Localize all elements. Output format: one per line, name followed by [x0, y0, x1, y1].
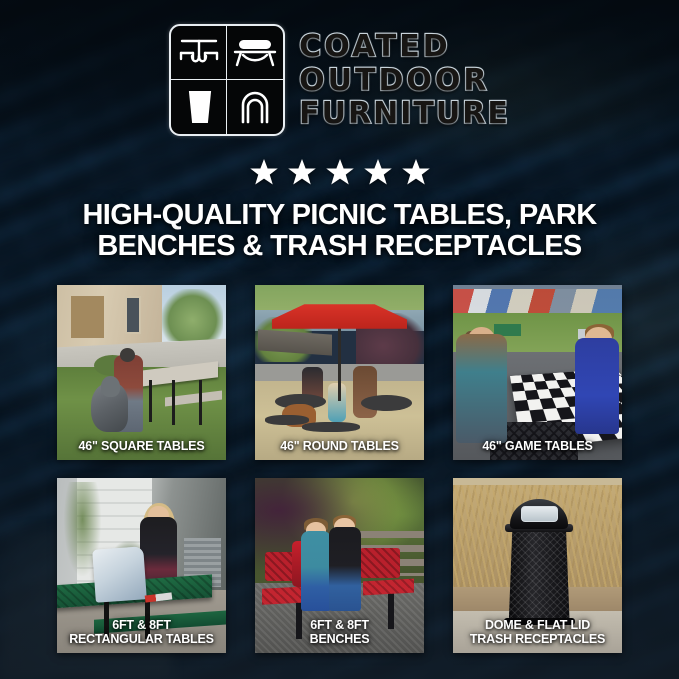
- brand-word-furniture: FURNITURE: [299, 98, 510, 130]
- caption-line-2: RECTANGULAR TABLES: [60, 632, 223, 646]
- product-tile-trash-receptacles[interactable]: DOME & FLAT LID TRASH RECEPTACLES: [453, 478, 622, 653]
- caption-line-1: 46" GAME TABLES: [456, 439, 619, 453]
- product-caption-round-tables: 46" ROUND TABLES: [255, 439, 424, 453]
- caption-line-1: 6FT & 8FT: [258, 618, 421, 632]
- product-photo-round-tables: [255, 285, 424, 460]
- table-side-icon: [227, 26, 283, 80]
- caption-line-2: BENCHES: [258, 632, 421, 646]
- star-rating: [0, 157, 679, 187]
- caption-line-1: 46" ROUND TABLES: [258, 439, 421, 453]
- product-photo-game-tables: [453, 285, 622, 460]
- product-caption-benches: 6FT & 8FT BENCHES: [255, 618, 424, 646]
- bike-rack-icon: [227, 80, 283, 134]
- trash-receptacle-icon: [171, 80, 227, 134]
- brand-word-outdoor: OUTDOOR: [299, 65, 510, 97]
- brand-wordmark: COATED OUTDOOR FURNITURE: [299, 29, 510, 130]
- product-caption-square-tables: 46" SQUARE TABLES: [57, 439, 226, 453]
- headline-line-2: BENCHES & TRASH RECEPTACLES: [30, 231, 649, 262]
- brand-header: COATED OUTDOOR FURNITURE: [0, 24, 679, 136]
- caption-line-1: 6FT & 8FT: [60, 618, 223, 632]
- product-tile-rectangular-tables[interactable]: 6FT & 8FT RECTANGULAR TABLES: [57, 478, 226, 653]
- star-icon: [325, 157, 355, 187]
- star-icon: [249, 157, 279, 187]
- product-tile-benches[interactable]: 6FT & 8FT BENCHES: [255, 478, 424, 653]
- promotional-poster: COATED OUTDOOR FURNITURE HIGH-QUALITY PI…: [0, 0, 679, 679]
- product-tile-round-tables[interactable]: 46" ROUND TABLES: [255, 285, 424, 460]
- product-caption-game-tables: 46" GAME TABLES: [453, 439, 622, 453]
- product-photo-square-tables: [57, 285, 226, 460]
- caption-line-1: DOME & FLAT LID: [456, 618, 619, 632]
- caption-line-2: TRASH RECEPTACLES: [456, 632, 619, 646]
- product-tile-square-tables[interactable]: 46" SQUARE TABLES: [57, 285, 226, 460]
- brand-word-coated: COATED: [299, 31, 510, 63]
- headline-line-1: HIGH-QUALITY PICNIC TABLES, PARK: [82, 199, 596, 231]
- product-tile-game-tables[interactable]: 46" GAME TABLES: [453, 285, 622, 460]
- star-icon: [401, 157, 431, 187]
- product-caption-rectangular-tables: 6FT & 8FT RECTANGULAR TABLES: [57, 618, 226, 646]
- picnic-table-front-icon: [171, 26, 227, 80]
- product-caption-trash-receptacles: DOME & FLAT LID TRASH RECEPTACLES: [453, 618, 622, 646]
- product-grid: 46" SQUARE TABLES 46" ROUND TABLES: [57, 285, 622, 653]
- logo-icon-grid: [169, 24, 285, 136]
- caption-line-1: 46" SQUARE TABLES: [60, 439, 223, 453]
- headline: HIGH-QUALITY PICNIC TABLES, PARK BENCHES…: [30, 200, 649, 263]
- star-icon: [287, 157, 317, 187]
- star-icon: [363, 157, 393, 187]
